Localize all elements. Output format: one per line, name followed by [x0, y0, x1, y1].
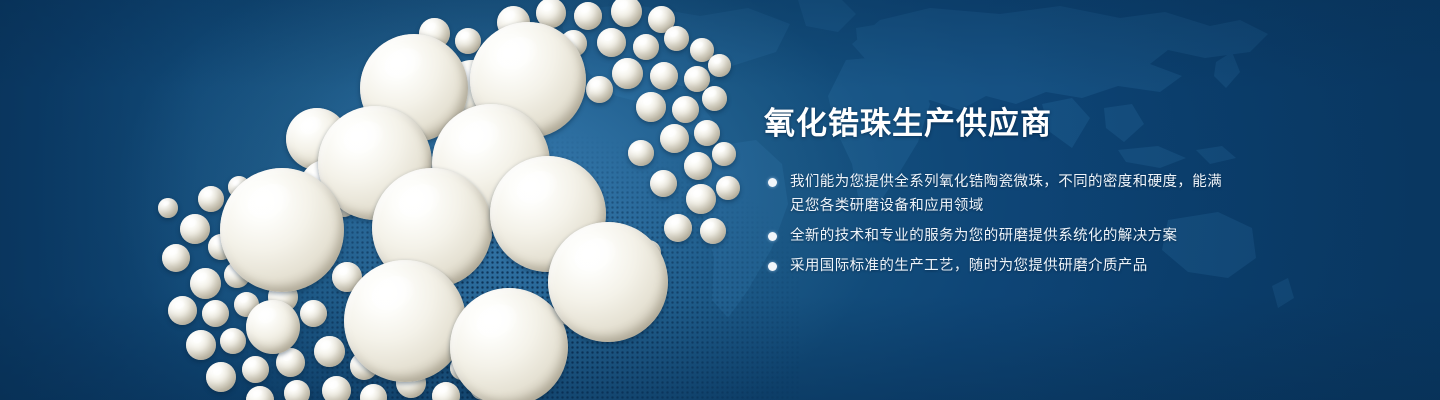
bullet-dot-icon: [768, 262, 777, 271]
hero-banner: 氧化锆珠生产供应商 我们能为您提供全系列氧化锆陶瓷微珠，不同的密度和硬度，能满足…: [0, 0, 1440, 400]
list-item-text: 采用国际标准的生产工艺，随时为您提供研磨介质产品: [790, 258, 1148, 274]
bullet-dot-icon: [768, 178, 777, 187]
bullet-dot-icon: [768, 232, 777, 241]
feature-list: 我们能为您提供全系列氧化锆陶瓷微珠，不同的密度和硬度，能满足您各类研磨设备和应用…: [764, 170, 1234, 278]
banner-copy: 氧化锆珠生产供应商 我们能为您提供全系列氧化锆陶瓷微珠，不同的密度和硬度，能满足…: [764, 104, 1234, 278]
list-item-text: 全新的技术和专业的服务为您的研磨提供系统化的解决方案: [790, 228, 1177, 244]
list-item: 全新的技术和专业的服务为您的研磨提供系统化的解决方案: [764, 224, 1234, 248]
list-item: 我们能为您提供全系列氧化锆陶瓷微珠，不同的密度和硬度，能满足您各类研磨设备和应用…: [764, 170, 1234, 218]
list-item: 采用国际标准的生产工艺，随时为您提供研磨介质产品: [764, 254, 1234, 278]
page-title: 氧化锆珠生产供应商: [764, 104, 1234, 144]
list-item-text: 我们能为您提供全系列氧化锆陶瓷微珠，不同的密度和硬度，能满足您各类研磨设备和应用…: [790, 174, 1222, 214]
zirconia-beads-photo: [0, 0, 740, 400]
